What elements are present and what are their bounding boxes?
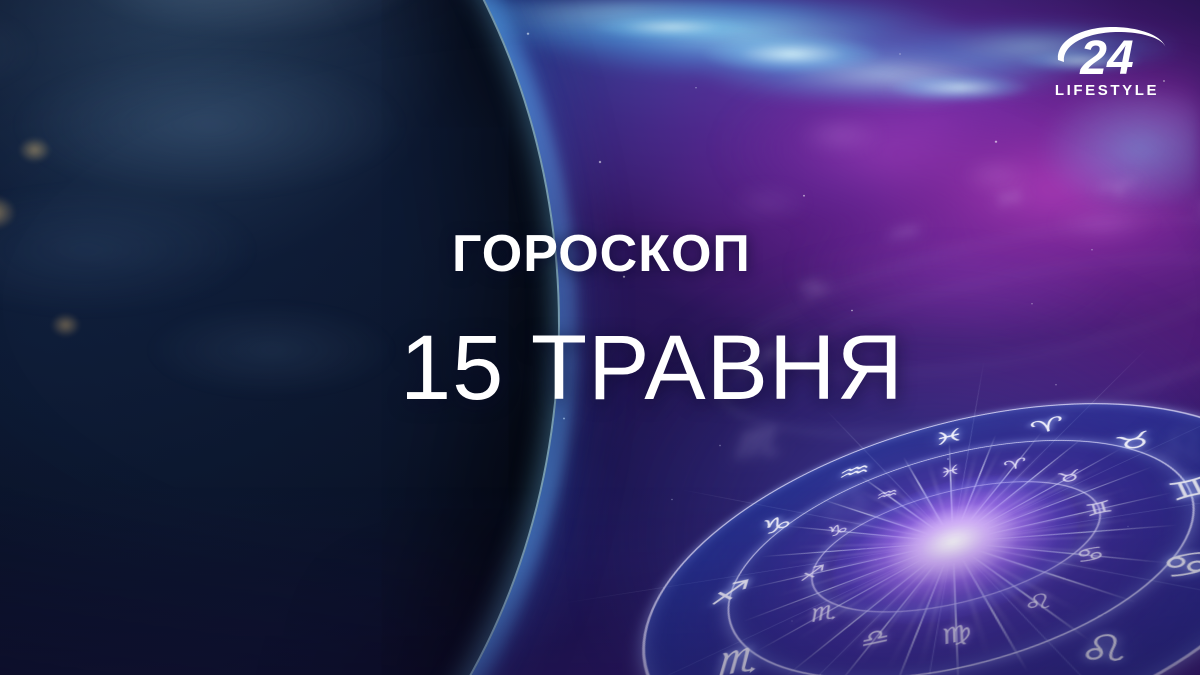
page-title: ГОРОСКОП [452, 224, 751, 284]
logo-number: 24 [1079, 32, 1133, 84]
horoscope-banner: ♓♈♉♊♋♌♍♎♏♐♑♒ ♓♈♉♊♋♌♍♎♏♐♑♒ ♓♈♉♊♋♌♍♎♏♐♑♒ Г… [0, 0, 1200, 675]
page-subtitle: 15 ТРАВНЯ [400, 316, 904, 421]
zodiac-glyph-aquarius: ♒ [883, 220, 923, 247]
logo-wordmark: LIFESTYLE [1042, 82, 1172, 99]
zodiac-glyph-capricorn: ♑ [824, 521, 850, 541]
logo[interactable]: 24 LIFESTYLE [1042, 22, 1172, 108]
zodiac-glyph-sagittarius: ♐ [798, 563, 826, 586]
zodiac-glyph-pisces: ♓ [939, 463, 962, 481]
zodiac-glyph-pisces: ♓ [991, 186, 1028, 212]
zodiac-glyph-aries: ♈ [1003, 456, 1029, 474]
logo-24-mark: 24 [1042, 22, 1172, 84]
